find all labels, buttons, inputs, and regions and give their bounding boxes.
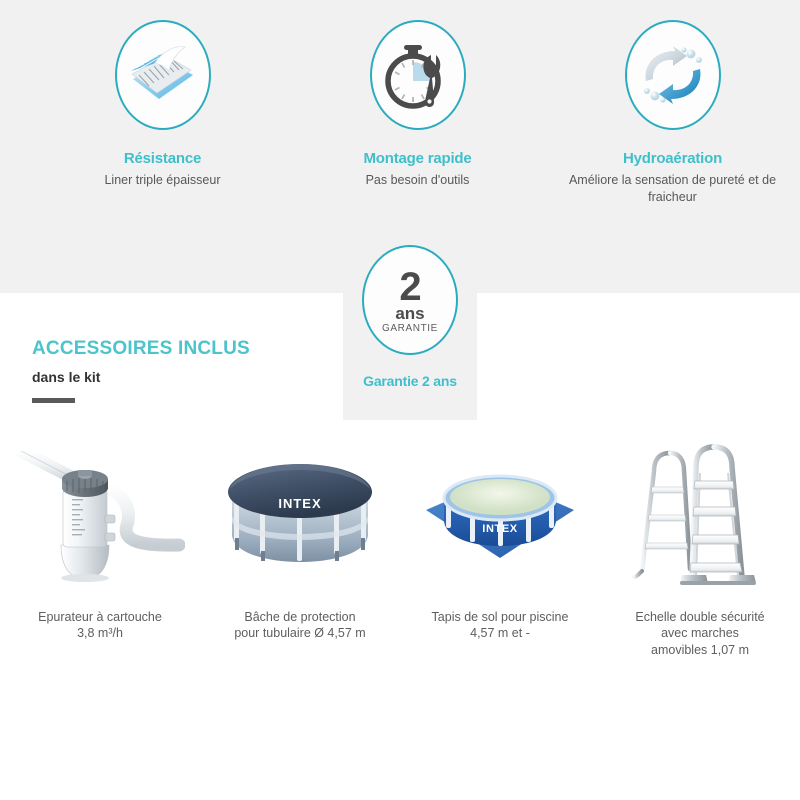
warranty-badge-icon: 2 ans GARANTIE: [362, 245, 458, 355]
accessories-list: Epurateur à cartouche 3,8 m³/h: [0, 430, 800, 658]
pool-cover-tarp-image: INTEX: [220, 430, 380, 595]
water-circulation-bubbles-icon: [625, 20, 721, 130]
safety-ladder-image: [630, 430, 770, 595]
stopwatch-wrench-icon: [370, 20, 466, 130]
feature-title: Montage rapide: [363, 150, 471, 167]
feature-quick-assembly: Montage rapide Pas besoin d'outils: [290, 20, 545, 189]
accessory-item-filter-pump[interactable]: Epurateur à cartouche 3,8 m³/h: [0, 430, 200, 658]
accessories-heading: ACCESSOIRES INCLUS dans le kit: [32, 338, 250, 403]
feature-hydroaeration: Hydroaération Améliore la sensation de p…: [545, 20, 800, 206]
product-features-page: Résistance Liner triple épaisseur: [0, 0, 800, 800]
feature-description: Améliore la sensation de pureté et de fr…: [558, 172, 788, 206]
feature-description: Liner triple épaisseur: [104, 172, 220, 189]
accessory-caption: Epurateur à cartouche 3,8 m³/h: [30, 609, 170, 642]
guarantee-number: 2: [399, 267, 420, 307]
ground-cloth-image: INTEX: [420, 430, 580, 595]
guarantee-title: Garantie 2 ans: [363, 373, 457, 389]
accessory-caption: Bâche de protection pour tubulaire Ø 4,5…: [233, 609, 368, 642]
svg-text:INTEX: INTEX: [278, 496, 321, 511]
accessories-underline-rule: [32, 398, 75, 403]
accessory-caption: Tapis de sol pour piscine 4,57 m et -: [430, 609, 570, 642]
accessory-item-ground-cloth[interactable]: INTEX Tapis de sol pour piscine 4,57 m e…: [400, 430, 600, 658]
accessories-title: ACCESSOIRES INCLUS: [32, 338, 250, 360]
feature-title: Hydroaération: [623, 150, 722, 167]
feature-description: Pas besoin d'outils: [366, 172, 470, 189]
feature-title: Résistance: [124, 150, 201, 167]
accessory-item-pool-cover[interactable]: INTEX Bâche de protection pour tubulaire…: [200, 430, 400, 658]
cartridge-filter-pump-image: [15, 430, 185, 595]
triple-layer-liner-icon: [115, 20, 211, 130]
svg-text:INTEX: INTEX: [482, 523, 517, 535]
accessory-caption: Echelle double sécurité avec marches amo…: [633, 609, 768, 658]
guarantee-word: GARANTIE: [382, 324, 438, 334]
accessory-item-safety-ladder[interactable]: Echelle double sécurité avec marches amo…: [600, 430, 800, 658]
guarantee-unit: ans: [395, 305, 424, 322]
guarantee-block: 2 ans GARANTIE Garantie 2 ans: [343, 245, 477, 389]
accessories-subtitle: dans le kit: [32, 369, 250, 385]
features-row: Résistance Liner triple épaisseur: [0, 20, 800, 206]
feature-resistance: Résistance Liner triple épaisseur: [35, 20, 290, 189]
